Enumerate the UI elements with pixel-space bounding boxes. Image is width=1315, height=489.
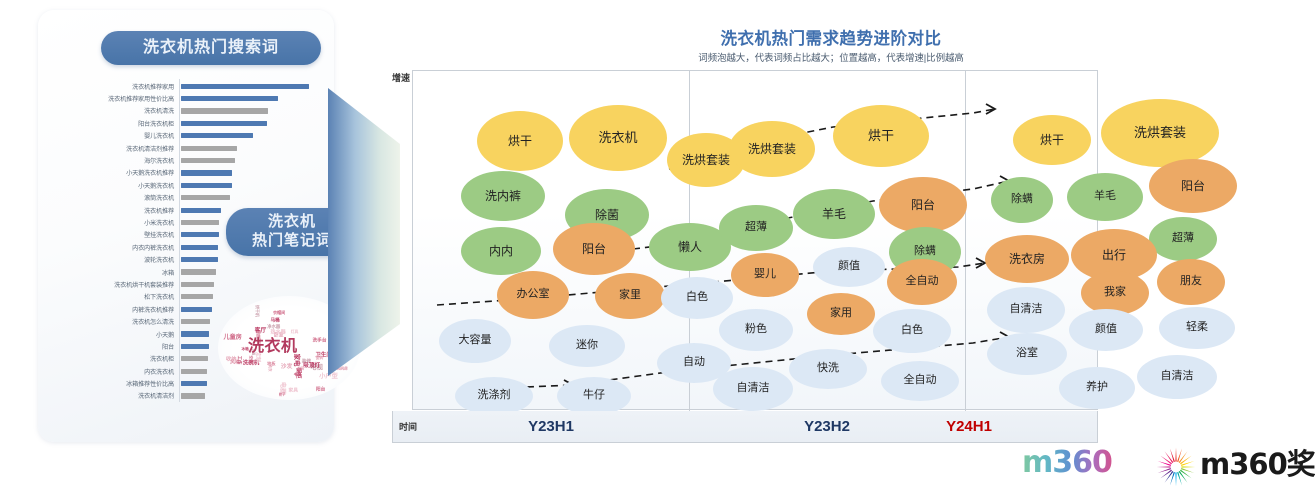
bubble-y23h2[interactable]: 洗烘套装 xyxy=(729,121,815,177)
bar-track xyxy=(179,142,314,154)
chart-subtitle: 词频泡越大，代表词频占比越大；位置越高，代表增速|比例越高 xyxy=(600,50,1062,64)
wordcloud-word: 沙发 xyxy=(281,365,292,371)
bar-track xyxy=(179,130,314,142)
starburst-ray xyxy=(1181,466,1195,467)
bubble-y23h1[interactable]: 白色 xyxy=(661,277,733,319)
bubble-y23h2[interactable]: 家用 xyxy=(807,293,875,335)
bubble-y23h2[interactable]: 自清洁 xyxy=(713,367,793,411)
period-label-y23h2: Y23H2 xyxy=(767,418,887,435)
bubble-y23h2[interactable]: 粉色 xyxy=(719,309,793,351)
bubble-y24h1[interactable]: 洗衣房 xyxy=(985,235,1069,283)
wordcloud-word: 瓷砖 xyxy=(316,356,324,360)
bar xyxy=(181,331,209,336)
bar-label: 阳台 xyxy=(82,342,179,351)
bubble-y23h2[interactable]: 快洗 xyxy=(789,349,867,389)
bar-label: 冰箱 xyxy=(82,268,179,277)
bubble-y23h1[interactable]: 迷你 xyxy=(549,325,625,367)
bubble-y23h2[interactable]: 颜值 xyxy=(813,247,885,287)
bar-label: 小天鹅洗衣机 xyxy=(82,181,179,190)
bar-row: 洗衣机清洗 xyxy=(82,105,314,117)
bubble-y23h1[interactable]: 办公室 xyxy=(497,271,569,319)
bubble-y24h1[interactable]: 颜值 xyxy=(1069,309,1143,351)
starburst-ray xyxy=(1179,451,1188,463)
bar-row: 小天鹅洗衣机 xyxy=(82,179,314,191)
bar xyxy=(181,344,209,349)
bar-track xyxy=(179,167,314,179)
bar-label: 洗衣机柜 xyxy=(82,354,179,363)
wordcloud-word: 工作 xyxy=(236,355,240,364)
wordcloud-main-word: 洗衣机 xyxy=(248,338,298,354)
bar xyxy=(181,121,267,126)
bar-track xyxy=(179,105,314,117)
bar xyxy=(181,84,309,89)
bubble-y23h1[interactable]: 洗衣机 xyxy=(569,105,667,171)
funnel-connector xyxy=(326,84,402,380)
bubble-y24h1[interactable]: 烘干 xyxy=(1013,115,1091,165)
bar xyxy=(181,133,253,138)
bar-label: 小天鹅 xyxy=(82,330,179,339)
bar-label: 海尔洗衣机 xyxy=(82,156,179,165)
wordcloud-word: 洗手台 xyxy=(312,339,326,344)
bar-label: 内衣洗衣机 xyxy=(82,367,179,376)
wordcloud-word: 布局 xyxy=(298,367,305,370)
bar-label: 壁挂洗衣机 xyxy=(82,230,179,239)
starburst-ray xyxy=(1165,471,1174,483)
bar-label: 洗衣机怎么清洗 xyxy=(82,317,179,326)
starburst-ray xyxy=(1180,470,1192,479)
bubble-y24h1[interactable]: 羊毛 xyxy=(1067,173,1143,221)
trend-arrowhead xyxy=(976,258,985,268)
starburst-ray xyxy=(1175,448,1176,462)
wordcloud-word: 马桶 xyxy=(271,320,280,325)
bar xyxy=(181,282,214,287)
bar-track xyxy=(179,192,314,204)
bar xyxy=(181,257,218,262)
bar-label: 内衣内裤洗衣机 xyxy=(82,243,179,252)
bar xyxy=(181,356,208,361)
bar xyxy=(181,269,216,274)
bar-row: 阳台洗衣机柜 xyxy=(82,117,314,129)
starburst-center xyxy=(1171,462,1180,471)
bar xyxy=(181,146,237,151)
bar-row: 冰箱 xyxy=(82,266,314,278)
bar xyxy=(181,393,205,398)
bar-label: 洗衣机清洗 xyxy=(82,106,179,115)
bubble-y24h1[interactable]: 洗烘套装 xyxy=(1101,99,1219,167)
bar xyxy=(181,319,210,324)
period-label-y24h1: Y24H1 xyxy=(909,418,1029,435)
wordcloud-word: 书房 xyxy=(294,373,301,377)
starburst-ray xyxy=(1160,470,1172,479)
bubble-y23h2[interactable]: 全自动 xyxy=(887,259,957,305)
bar xyxy=(181,183,232,188)
bubble-y23h1[interactable]: 洗涤剂 xyxy=(455,377,533,415)
bubble-y23h2[interactable]: 烘干 xyxy=(833,105,929,167)
wordcloud-word: 烘干机 xyxy=(255,305,259,317)
bar xyxy=(181,96,278,101)
bar-row: 滚筒洗衣机 xyxy=(82,192,314,204)
bar-row: 洗衣机推荐家用 xyxy=(82,80,314,92)
wordcloud-word: 收纳 xyxy=(226,357,236,362)
bar xyxy=(181,158,235,163)
wordcloud-word: 净水器 xyxy=(267,326,280,330)
bar-label: 松下洗衣机 xyxy=(82,292,179,301)
bar xyxy=(181,381,207,386)
bubble-y23h1[interactable]: 洗内裤 xyxy=(461,171,545,221)
search-terms-title: 洗衣机热门搜索词 xyxy=(101,31,321,65)
wordcloud-word: 阳台 xyxy=(316,388,325,393)
bar-track xyxy=(179,154,314,166)
bar-label: 内裤洗衣机推荐 xyxy=(82,305,179,314)
x-axis-label: 时间 xyxy=(399,420,417,433)
y-axis-label: 增速 xyxy=(392,74,410,84)
bubble-y23h2[interactable]: 婴儿 xyxy=(731,253,799,297)
bubble-y23h1[interactable]: 阳台 xyxy=(553,223,635,275)
wordcloud-word: 吸顶灯 xyxy=(303,364,320,370)
bar-label: 滚筒洗衣机 xyxy=(82,193,179,202)
chart-title: 洗衣机热门需求趋势进阶对比 xyxy=(636,25,1026,49)
bubble-y24h1[interactable]: 轻柔 xyxy=(1159,307,1235,349)
m360-award-starburst-icon xyxy=(1155,446,1197,488)
starburst-ray xyxy=(1160,456,1172,465)
bar-row: 小天鹅洗衣机推荐 xyxy=(82,167,314,179)
m360-logo: m360 xyxy=(1022,448,1112,478)
bar-label: 小天鹅洗衣机推荐 xyxy=(82,168,179,177)
wordcloud-word: 衣帽间 xyxy=(273,311,285,315)
bar-row: 洗衣机烘干机套装推荐 xyxy=(82,278,314,290)
bar xyxy=(181,245,218,250)
bar-track xyxy=(179,117,314,129)
bar-label: 洗衣机推荐家用性价比高 xyxy=(82,94,179,103)
bubble-y23h1[interactable]: 牛仔 xyxy=(557,377,631,415)
wordcloud-word: 灯具 xyxy=(291,330,299,334)
bar-track xyxy=(179,278,314,290)
bubble-y23h1[interactable]: 家里 xyxy=(595,273,665,319)
bar xyxy=(181,232,219,237)
bar xyxy=(181,195,230,200)
bubble-y23h2[interactable]: 超薄 xyxy=(719,205,793,251)
period-label-y23h1: Y23H1 xyxy=(491,418,611,435)
bubble-y23h1[interactable]: 烘干 xyxy=(477,111,563,171)
bar-row: 婴儿洗衣机 xyxy=(82,130,314,142)
bar xyxy=(181,170,232,175)
bar-track xyxy=(179,266,314,278)
starburst-ray xyxy=(1165,451,1174,463)
bar-label: 阳台洗衣机柜 xyxy=(82,119,179,128)
bar-label: 洗衣机推荐家用 xyxy=(82,82,179,91)
bar-track xyxy=(179,179,314,191)
bar-label: 婴儿洗衣机 xyxy=(82,131,179,140)
plot-area: 烘干洗衣机洗烘套装洗内裤除菌内内阳台懒人办公室家里白色大容量迷你自动洗涤剂牛仔洗… xyxy=(412,70,1098,410)
trend-arrowhead xyxy=(986,104,995,114)
bubble-y23h1[interactable]: 内内 xyxy=(461,227,541,275)
starburst-ray xyxy=(1175,472,1176,486)
bar-row: 海尔洗衣机 xyxy=(82,154,314,166)
bubble-y24h1[interactable]: 浴室 xyxy=(987,333,1067,375)
bar xyxy=(181,294,213,299)
bar-label: 小米洗衣机 xyxy=(82,218,179,227)
bubble-y24h1[interactable]: 养护 xyxy=(1059,367,1135,409)
wordcloud-word: 地板 xyxy=(267,362,275,366)
bar-label: 洗衣机清洁剂推荐 xyxy=(82,144,179,153)
x-axis-row: 时间 Y23H1Y23H2Y24H1 xyxy=(392,411,1098,443)
bar-row: 洗衣机清洁剂推荐 xyxy=(82,142,314,154)
bubble-chart: 增速 烘干洗衣机洗烘套装洗内裤除菌内内阳台懒人办公室家里白色大容量迷你自动洗涤剂… xyxy=(392,70,1098,444)
bubble-y23h2[interactable]: 阳台 xyxy=(879,177,967,233)
bubble-y24h1[interactable]: 自清洁 xyxy=(1137,355,1217,399)
bubble-y23h2[interactable]: 白色 xyxy=(873,309,951,353)
starburst-ray xyxy=(1157,466,1171,467)
bar-label: 冰箱推荐性价比高 xyxy=(82,379,179,388)
wordcloud-word: 柜子 xyxy=(279,393,285,396)
bar xyxy=(181,369,207,374)
bar xyxy=(181,108,268,113)
bubble-y24h1[interactable]: 超薄 xyxy=(1149,217,1217,261)
wordcloud-word: 家具 xyxy=(289,390,299,395)
bar-label: 洗衣机清洁剂 xyxy=(82,391,179,400)
wordcloud-word: 热水器 xyxy=(270,330,285,335)
bubble-y23h2[interactable]: 羊毛 xyxy=(793,189,875,239)
bar-label: 洗衣机烘干机套装推荐 xyxy=(82,280,179,289)
column-divider-2 xyxy=(965,71,966,411)
bar-label: 波轮洗衣机 xyxy=(82,255,179,264)
bubble-y24h1[interactable]: 自清洁 xyxy=(987,287,1065,333)
bar-track xyxy=(179,92,314,104)
bar-label: 洗衣机推荐 xyxy=(82,206,179,215)
bar xyxy=(181,307,212,312)
bubble-y24h1[interactable]: 阳台 xyxy=(1149,159,1237,213)
search-terms-card: 洗衣机热门搜索词 洗衣机推荐家用洗衣机推荐家用性价比高洗衣机清洗阳台洗衣机柜婴儿… xyxy=(38,10,334,442)
bar xyxy=(181,220,219,225)
bubble-y24h1[interactable]: 除螨 xyxy=(991,177,1053,223)
starburst-ray xyxy=(1179,471,1188,483)
bubble-y24h1[interactable]: 我家 xyxy=(1081,271,1149,315)
bar-track xyxy=(179,80,314,92)
bubble-y23h1[interactable]: 大容量 xyxy=(439,319,511,363)
bar-row: 洗衣机推荐家用性价比高 xyxy=(82,92,314,104)
bar xyxy=(181,208,221,213)
wordcloud-word: 儿童房 xyxy=(224,335,242,341)
starburst-ray xyxy=(1180,456,1192,465)
wordcloud-word: 家电 xyxy=(294,353,300,366)
bubble-y23h2[interactable]: 全自动 xyxy=(881,361,959,401)
bubble-y24h1[interactable]: 朋友 xyxy=(1157,259,1225,305)
m360-award-logo: m360奖 xyxy=(1200,450,1315,479)
